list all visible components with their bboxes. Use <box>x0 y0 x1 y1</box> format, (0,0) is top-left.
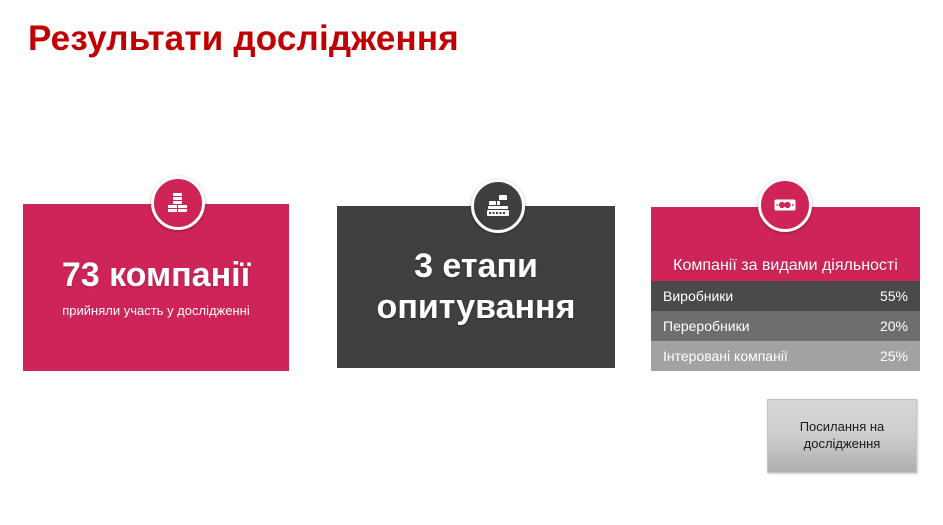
companies-caption: прийняли участь у дослідженні <box>62 303 249 319</box>
card-stages: 3 етапи опитування <box>337 206 615 368</box>
card-stages-body: 3 етапи опитування <box>337 206 615 368</box>
card-companies: 73 компанії прийняли участь у дослідженн… <box>23 204 289 371</box>
cash-register-icon <box>471 179 525 233</box>
row-label: Переробники <box>663 318 750 334</box>
row-value: 20% <box>880 318 908 334</box>
card-breakdown: Компанії за видами діяльності Виробники … <box>651 207 920 371</box>
page-title: Результати дослідження <box>28 18 459 60</box>
row-label: Інтеровані компанії <box>663 348 788 364</box>
table-row: Переробники 20% <box>651 311 920 341</box>
card-companies-body: 73 компанії прийняли участь у дослідженн… <box>23 204 289 371</box>
research-link-button-label: Посилання на дослідження <box>768 419 916 453</box>
companies-count: 73 компанії <box>62 256 250 294</box>
row-value: 55% <box>880 288 908 304</box>
research-link-button[interactable]: Посилання на дослідження <box>767 399 917 473</box>
stages-line-1: 3 етапи <box>400 246 552 287</box>
money-stack-icon <box>151 176 205 230</box>
stages-line-2: опитування <box>363 287 590 328</box>
banknote-icon <box>758 178 812 232</box>
table-row: Виробники 55% <box>651 281 920 311</box>
row-value: 25% <box>880 348 908 364</box>
row-label: Виробники <box>663 288 733 304</box>
table-row: Інтеровані компанії 25% <box>651 341 920 371</box>
